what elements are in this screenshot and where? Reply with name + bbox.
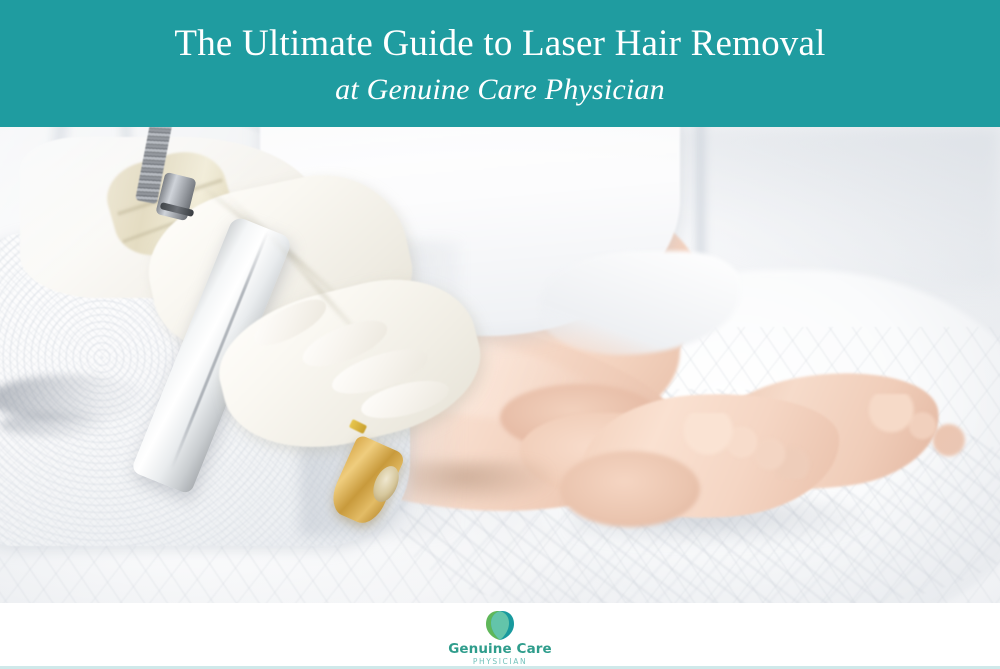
brand-logo[interactable]: Genuine Care PHYSICIAN [448,605,552,667]
page-subtitle: at Genuine Care Physician [335,69,665,111]
laser-contact-shadow [410,460,550,503]
heel-front [560,451,700,527]
hero-photo [0,127,1000,603]
bed-crease [0,413,110,437]
toes-rear [860,394,980,461]
genuine-care-heart-logo-icon [473,605,527,641]
page-title: The Ultimate Guide to Laser Hair Removal [174,21,825,67]
toes-front [680,413,820,480]
brand-tagline: PHYSICIAN [473,657,527,667]
poster-page: The Ultimate Guide to Laser Hair Removal… [0,0,1000,669]
header-banner: The Ultimate Guide to Laser Hair Removal… [0,0,1000,127]
footer-bar: Genuine Care PHYSICIAN [0,603,1000,669]
brand-name: Genuine Care [448,642,552,656]
